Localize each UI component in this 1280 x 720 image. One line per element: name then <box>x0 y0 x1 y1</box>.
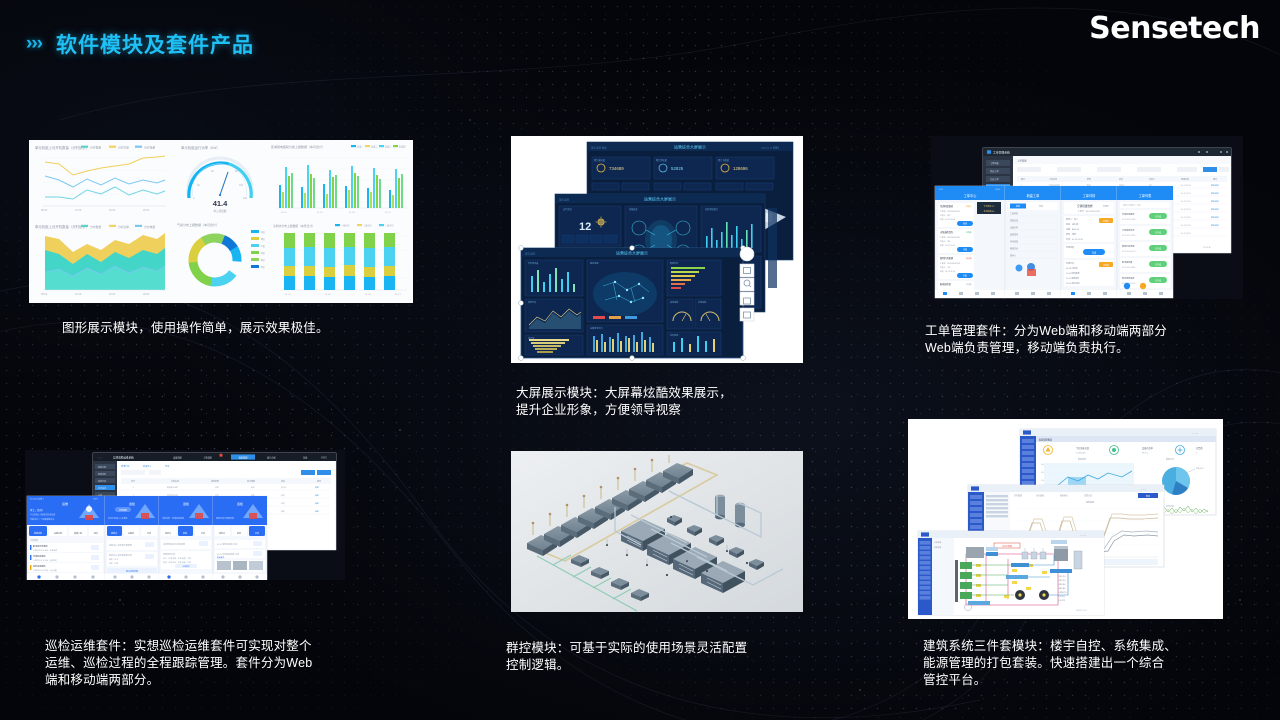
svg-text:空调机组维修: 空调机组维修 <box>1077 204 1093 208</box>
caption-graphics-module: 图形展示模块，使用操作简单，展示效果极佳。 <box>62 320 442 337</box>
svg-text:01-13: 01-13 <box>385 212 391 214</box>
svg-text:— □ ×: — □ × <box>1140 488 1147 491</box>
svg-text:○○○○: ○○○○ <box>97 456 103 459</box>
svg-text:C区: C区 <box>261 244 266 248</box>
svg-text:首页 监控 报表: 首页 监控 报表 <box>591 146 607 150</box>
isometric-hvac-graphic <box>511 451 803 612</box>
svg-text:300: 300 <box>1041 480 1044 482</box>
svg-text:20:00: 20:00 <box>143 293 150 296</box>
svg-text:首页 监控: 首页 监控 <box>525 252 536 256</box>
page-title: 软件模块及套件产品 <box>56 29 254 59</box>
svg-text:运维: 运维 <box>62 501 68 506</box>
svg-text:01-09: 01-09 <box>365 294 371 296</box>
svg-text:分时数量: 分时数量 <box>90 146 101 150</box>
svg-text:12:00: 12:00 <box>75 293 82 296</box>
svg-text:工单管理: 工单管理 <box>1017 159 1027 163</box>
svg-text:巡检: 巡检 <box>129 501 135 506</box>
svg-text:01-12 11:00: 01-12 11:00 <box>1181 201 1190 203</box>
svg-text:计划时间 09:00 地点：B1配电房: 计划时间 09:00 地点：B1配电房 <box>33 549 57 552</box>
svg-text:分时电量: 分时电量 <box>144 225 155 229</box>
svg-text:01-12 16:25: 01-12 16:25 <box>1181 233 1191 235</box>
svg-text:工单详情: 工单详情 <box>1083 193 1097 198</box>
svg-text:— □ ×: — □ × <box>1080 534 1087 537</box>
svg-text:600: 600 <box>1041 464 1044 466</box>
svg-text:16:00: 16:00 <box>109 293 116 296</box>
svg-text:工单管理系统: 工单管理系统 <box>993 150 1010 154</box>
svg-text:F区: F区 <box>261 265 265 269</box>
svg-text:工单列表: 工单列表 <box>1139 193 1153 198</box>
svg-text:分时功率: 分时功率 <box>118 225 129 229</box>
svg-text:首页 监控: 首页 监控 <box>559 198 570 202</box>
svg-text:01-12 09:30: 01-12 09:30 <box>1181 185 1191 187</box>
svg-text:1,284 kWh: 1,284 kWh <box>1076 453 1086 455</box>
svg-text:1: 1 <box>133 487 134 489</box>
svg-text:分时电量: 分时电量 <box>144 146 155 150</box>
svg-text:734689: 734689 <box>609 166 624 171</box>
svg-text:01-12 13:20: 01-12 13:20 <box>1181 209 1191 211</box>
screenshot-group-control-module[interactable] <box>511 451 803 612</box>
svg-text:01-05: 01-05 <box>325 294 331 296</box>
slide-header: ››› 软件模块及套件产品 Sensetech <box>0 0 1280 70</box>
building-suite-graphic: — □ × 能源管理概览 今日能耗总量 1,284 kWh <box>908 419 1223 619</box>
caption-building-suite: 建筑系统三件套模块：楼宇自控、系统集成、 能源管理的打包套装。快速搭建出一个综合… <box>923 638 1253 689</box>
svg-text:41.4: 41.4 <box>213 199 228 208</box>
svg-text:工单中心: 工单中心 <box>964 193 978 198</box>
svg-text:运营综合大屏展示: 运营综合大屏展示 <box>674 144 706 150</box>
svg-text:分时功率: 分时功率 <box>118 146 129 150</box>
svg-text:120: 120 <box>243 197 248 200</box>
screenshot-inspection-suite[interactable]: ○○○○ 实想巡检运维系统 设备管理工单管理 巡检管理统计分析系统 巡检管理 管… <box>25 450 345 580</box>
screenshot-graphics-module[interactable]: 单元机组上月开机数量（分时统计） 分时数量 分时功率 分时电量 08:0012:… <box>29 140 413 303</box>
svg-text:08:00: 08:00 <box>41 209 48 212</box>
caption-inspection-suite: 巡检运维套件：实想巡检运维套件可实现对整个 运维、巡检过程的全程跟踪管理。套件分… <box>45 638 445 689</box>
svg-text:100: 100 <box>239 184 244 187</box>
svg-text:巡检: 巡检 <box>237 501 243 506</box>
svg-text:98.6 %: 98.6 % <box>1142 453 1148 455</box>
screenshot-workorder-suite[interactable]: 工单管理系统 工单列表待办工单 已办工单统计分析 系统设置 工单管理 <box>931 136 1243 299</box>
chevron-right-icon: ››› <box>26 33 42 55</box>
svg-text:12: 12 <box>579 221 591 233</box>
slide-root: ››› 软件模块及套件产品 Sensetech 单元机组上月开机数量（分时统计）… <box>0 0 1280 720</box>
svg-text:计划时间 14:00 地点：各层走廊: 计划时间 14:00 地点：各层走廊 <box>33 569 57 572</box>
svg-text:B区: B区 <box>261 237 266 241</box>
svg-text:20:00: 20:00 <box>143 209 150 212</box>
svg-text:01-09: 01-09 <box>349 212 355 214</box>
caption-workorder-suite: 工单管理套件：分为Web端和移动端两部分 Web端负责管理，移动端负责执行。 <box>925 323 1255 357</box>
svg-text:01-12 10:15: 01-12 10:15 <box>1181 193 1191 195</box>
svg-text:01-05: 01-05 <box>317 212 323 214</box>
svg-text:12:00: 12:00 <box>75 209 82 212</box>
svg-text:新建工单: 新建工单 <box>1027 193 1041 198</box>
svg-text:区域用电能耗分类上报数据（本月合计）: 区域用电能耗分类上报数据（本月合计） <box>271 144 325 149</box>
svg-text:01-12 15:40: 01-12 15:40 <box>1181 225 1191 227</box>
svg-text:08:00: 08:00 <box>41 293 48 296</box>
svg-text:01-01: 01-01 <box>285 294 291 296</box>
svg-text:01-01: 01-01 <box>281 212 287 214</box>
screenshot-bigscreen-module[interactable]: 运营综合大屏展示 首页 监控 报表 2024-01-15 管理员 734689 … <box>511 136 803 363</box>
svg-text:52825: 52825 <box>671 166 684 171</box>
svg-text:— □ ×: — □ × <box>1192 432 1199 435</box>
svg-text:A区: A区 <box>261 230 266 234</box>
svg-text:100%: 100% <box>995 189 1000 191</box>
inspection-graphic: ○○○○ 实想巡检运维系统 设备管理工单管理 巡检管理统计分析系统 巡检管理 管… <box>25 450 345 580</box>
svg-text:冷却水分布上报数据（本月合计）: 冷却水分布上报数据（本月合计） <box>273 224 315 228</box>
svg-text:128696: 128696 <box>733 166 748 171</box>
svg-text:单元机组运行功率（kW）: 单元机组运行功率（kW） <box>181 145 220 150</box>
svg-text:李工，您好！: 李工，您好！ <box>30 508 44 512</box>
svg-text:巡检: 巡检 <box>183 501 189 506</box>
svg-text:D区: D区 <box>261 251 266 255</box>
caption-bigscreen-module: 大屏展示模块：大屏幕炫酷效果展示， 提升企业形象，方便领导视察 <box>516 385 816 419</box>
svg-text:实想巡检运维系统: 实想巡检运维系统 <box>113 455 134 459</box>
svg-text:气候分布上报数据（本月合计）: 气候分布上报数据（本月合计） <box>177 222 219 227</box>
svg-text:01-13: 01-13 <box>395 294 401 296</box>
svg-text:计划时间 10:30 地点：屋顶机房: 计划时间 10:30 地点：屋顶机房 <box>33 559 57 562</box>
svg-text:E区: E区 <box>261 258 266 262</box>
svg-text:450: 450 <box>1041 472 1044 474</box>
caption-group-control-module: 群控模块：可基于实际的使用场景灵活配置 控制逻辑。 <box>506 640 836 674</box>
svg-text:01-12 14:05: 01-12 14:05 <box>1181 217 1191 219</box>
svg-text:运营综合大屏展示: 运营综合大屏展示 <box>644 196 676 202</box>
bigscreen-stack-graphic: 运营综合大屏展示 首页 监控 报表 2024-01-15 管理员 734689 … <box>511 136 803 363</box>
workorder-graphic: 工单管理系统 工单列表待办工单 已办工单统计分析 系统设置 工单管理 <box>931 136 1243 299</box>
brand-logo: Sensetech <box>1089 11 1260 46</box>
svg-text:分时数量: 分时数量 <box>90 225 101 229</box>
svg-text:单元机组数: 单元机组数 <box>214 209 227 213</box>
screenshot-building-suite[interactable]: — □ × 能源管理概览 今日能耗总量 1,284 kWh <box>908 419 1223 619</box>
analytics-dashboard-graphic: 单元机组上月开机数量（分时统计） 分时数量 分时功率 分时电量 08:0012:… <box>29 140 413 303</box>
svg-text:16:00: 16:00 <box>109 209 116 212</box>
